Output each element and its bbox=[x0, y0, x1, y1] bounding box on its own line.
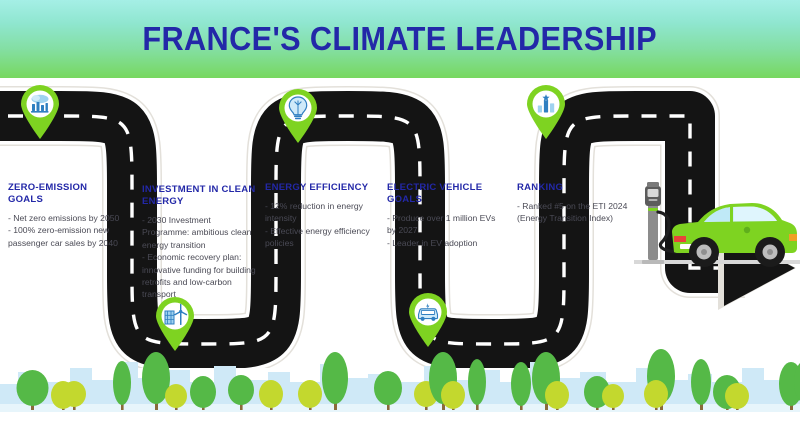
milestone-heading: ZERO-EMISSION GOALS bbox=[8, 182, 120, 206]
milestone-zero-emission-goals: ZERO-EMISSION GOALS - Net zero emissions… bbox=[8, 182, 120, 249]
milestone-body: - Ranked #5 on the ETI 2024 (Energy Tran… bbox=[517, 200, 629, 225]
milestone-energy-efficiency: ENERGY EFFICIENCY - 12% reduction in ene… bbox=[265, 182, 373, 250]
milestone-body: - Net zero emissions by 2050 - 100% zero… bbox=[8, 212, 120, 249]
map-pin-zero-emission-goals bbox=[18, 84, 62, 140]
ground-band bbox=[0, 404, 800, 412]
map-pin-ranking bbox=[524, 84, 568, 140]
map-pin-investment-in-clean-energy bbox=[153, 296, 197, 352]
map-pin-energy-efficiency bbox=[276, 88, 320, 144]
wheel-front bbox=[755, 237, 785, 267]
electric-car-illustration bbox=[672, 203, 797, 267]
page-title: FRANCE'S CLIMATE LEADERSHIP bbox=[143, 20, 658, 58]
milestone-heading: ELECTRIC VEHICLE GOALS bbox=[387, 182, 503, 206]
milestone-heading: RANKING bbox=[517, 182, 629, 194]
milestone-body: - 12% reduction in energy intensity - Ef… bbox=[265, 200, 373, 250]
milestone-ranking: RANKING - Ranked #5 on the ETI 2024 (Ene… bbox=[517, 182, 629, 225]
header-banner: FRANCE'S CLIMATE LEADERSHIP bbox=[0, 0, 800, 78]
milestone-body: - 2030 Investment Programme: ambitious c… bbox=[142, 214, 258, 301]
infographic-page: FRANCE'S CLIMATE LEADERSHIP ZERO-EMISSIO… bbox=[0, 0, 800, 422]
milestone-electric-vehicle-goals: ELECTRIC VEHICLE GOALS - Produce over 1 … bbox=[387, 182, 503, 249]
milestone-heading: ENERGY EFFICIENCY bbox=[265, 182, 373, 194]
scenery-tree-row bbox=[0, 348, 800, 422]
door-handle-hub bbox=[744, 227, 750, 233]
milestone-body: - Produce over 1 million EVs by 2027 - L… bbox=[387, 212, 503, 249]
ev-charging-illustration bbox=[634, 168, 800, 272]
milestone-heading: INVESTMENT IN CLEAN ENERGY bbox=[142, 184, 258, 208]
milestone-investment-in-clean-energy: INVESTMENT IN CLEAN ENERGY - 2030 Invest… bbox=[142, 184, 258, 301]
tail-light bbox=[674, 236, 686, 242]
map-pin-electric-vehicle-goals bbox=[406, 292, 450, 348]
head-light bbox=[789, 234, 797, 241]
wheel-rear bbox=[689, 237, 719, 267]
